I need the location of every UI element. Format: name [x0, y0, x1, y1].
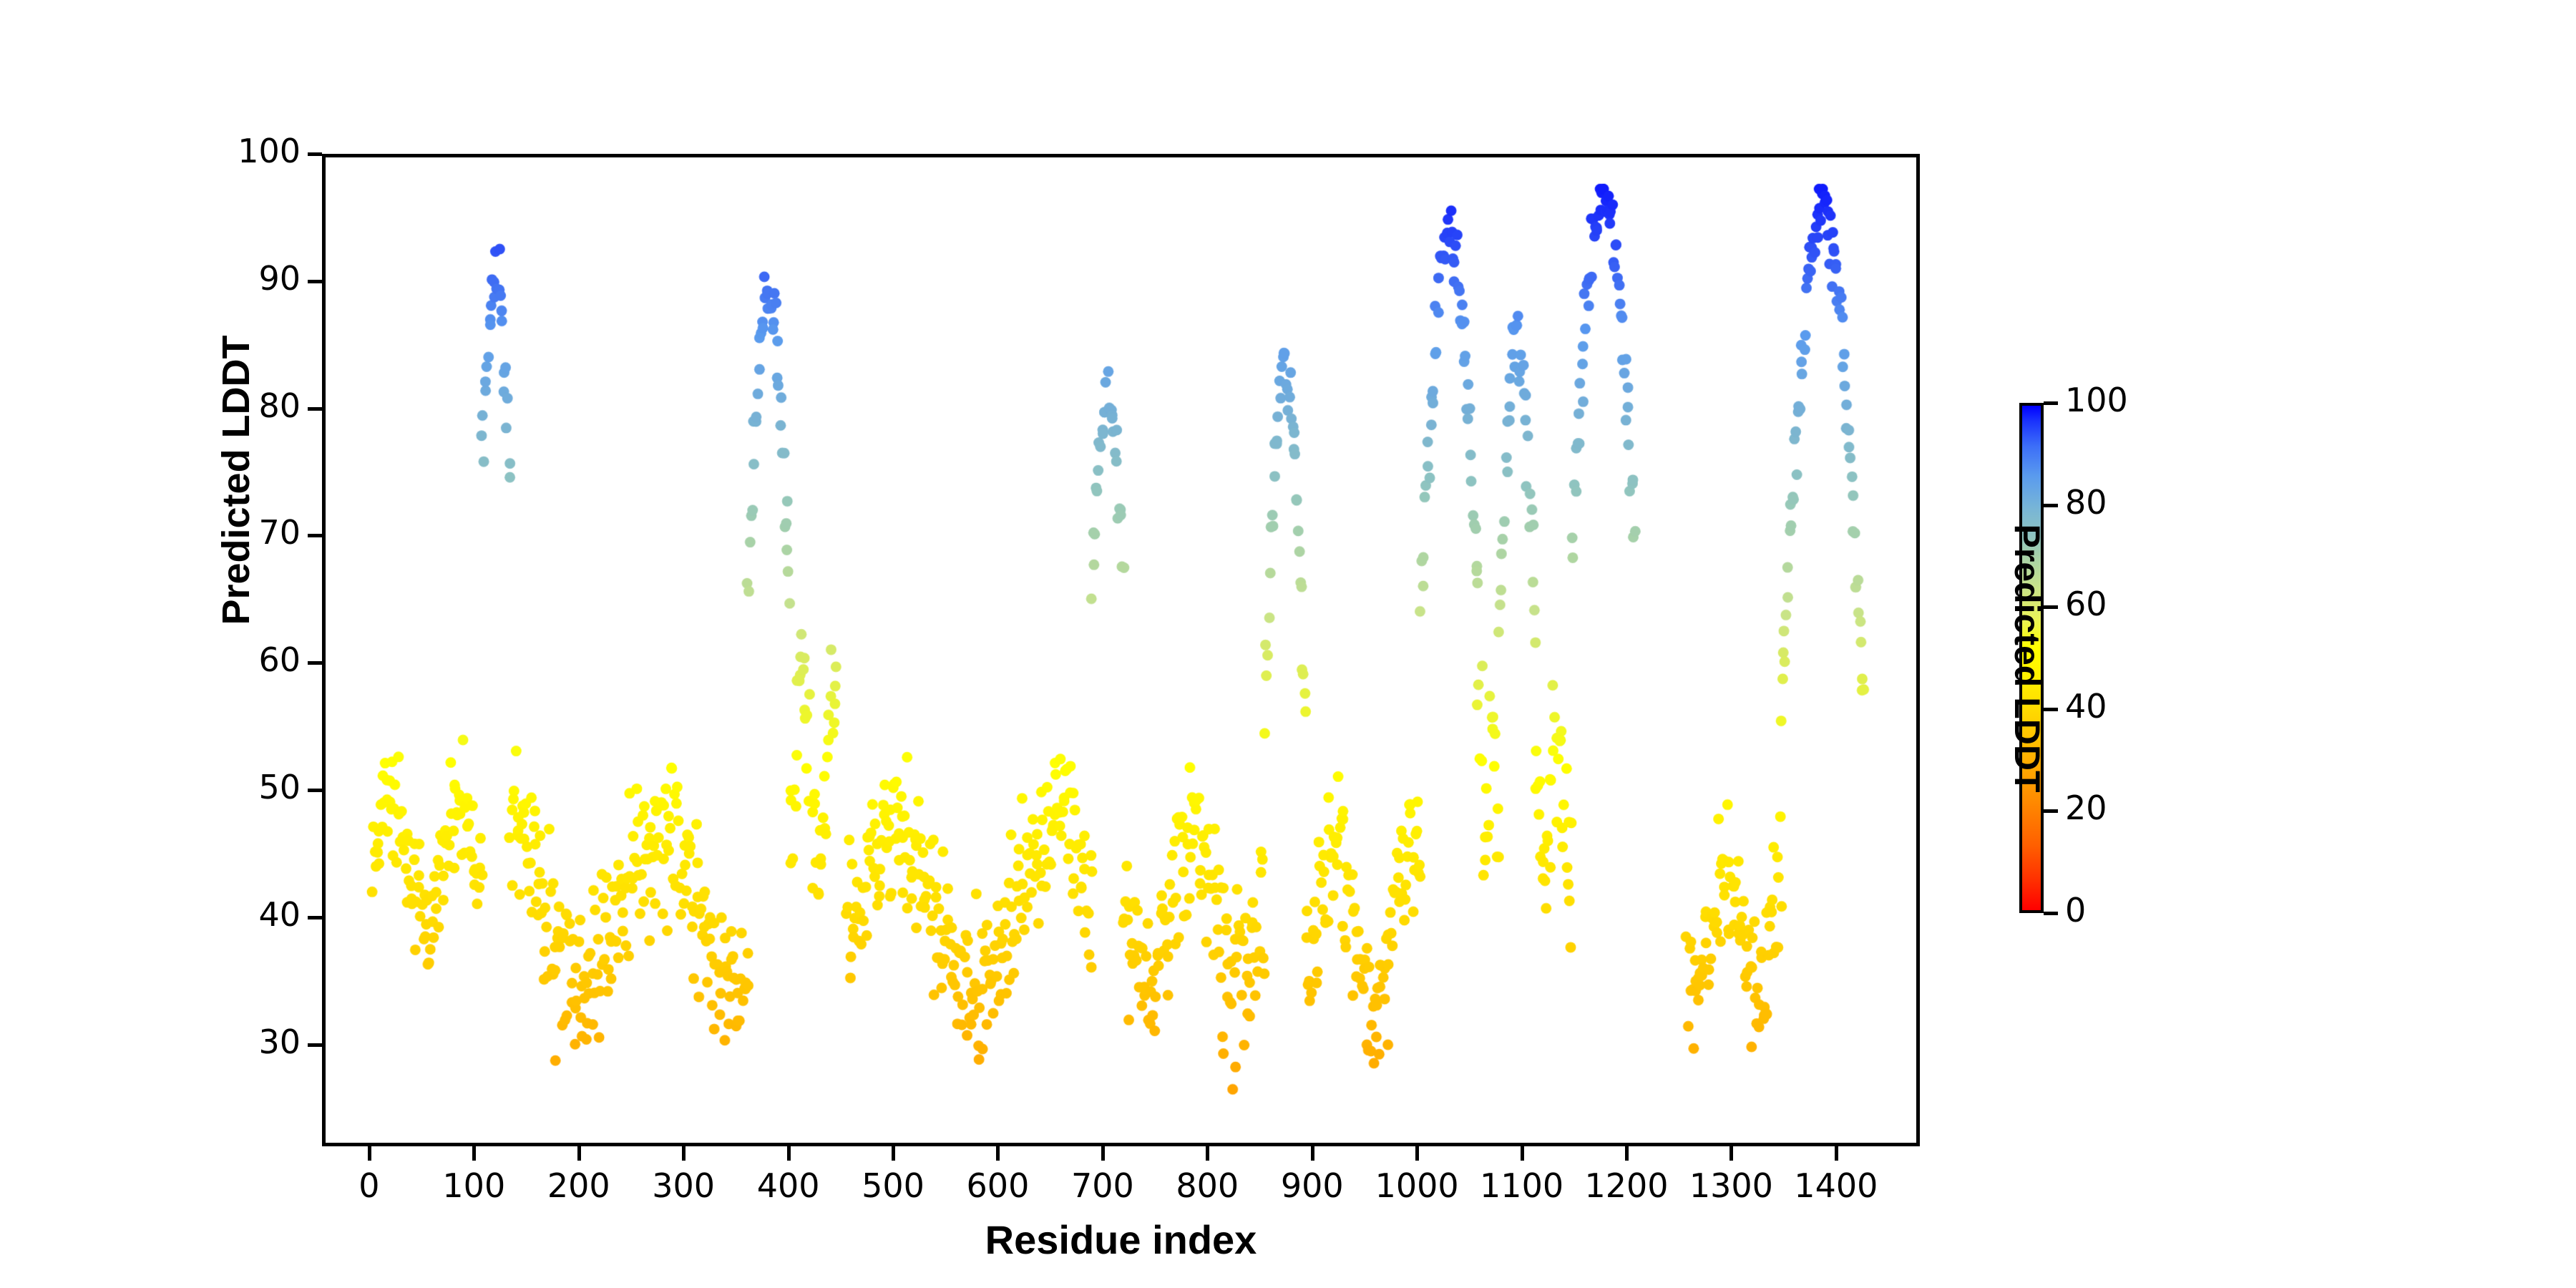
colorbar-tick-mark — [2044, 401, 2058, 405]
colorbar-tick-label: 20 — [2065, 789, 2107, 827]
plot-area — [322, 154, 1920, 1146]
y-tick-label: 40 — [222, 895, 301, 934]
x-tick-mark — [1729, 1146, 1733, 1161]
y-tick-mark — [308, 789, 322, 792]
colorbar-tick-mark — [2044, 912, 2058, 915]
x-tick-mark — [1415, 1146, 1419, 1161]
y-tick-mark — [308, 152, 322, 156]
x-tick-mark — [996, 1146, 1000, 1161]
scatter-points-layer — [326, 157, 1916, 1143]
y-tick-mark — [308, 280, 322, 283]
y-tick-mark — [308, 661, 322, 665]
colorbar-tick-label: 40 — [2065, 687, 2107, 726]
x-tick-mark — [1101, 1146, 1105, 1161]
x-tick-mark — [1835, 1146, 1838, 1161]
colorbar-tick-label: 100 — [2065, 381, 2128, 419]
y-tick-label: 100 — [222, 132, 301, 170]
y-tick-label: 60 — [222, 640, 301, 679]
colorbar-tick-label: 80 — [2065, 483, 2107, 522]
x-tick-mark — [1206, 1146, 1209, 1161]
y-tick-label: 50 — [222, 768, 301, 806]
y-tick-label: 30 — [222, 1023, 301, 1061]
y-tick-mark — [308, 1043, 322, 1047]
x-axis-title: Residue index — [322, 1216, 1920, 1263]
x-tick-mark — [787, 1146, 791, 1161]
y-tick-mark — [308, 534, 322, 537]
y-tick-label: 90 — [222, 259, 301, 298]
x-tick-mark — [1521, 1146, 1524, 1161]
figure-canvas: Predicted LDDT 30405060708090100 0100200… — [0, 0, 2576, 1288]
colorbar-tick-label: 0 — [2065, 891, 2086, 930]
x-tick-label: 1400 — [1765, 1166, 1908, 1205]
colorbar-title: Predicted LDDT — [2006, 408, 2048, 909]
x-tick-mark — [577, 1146, 581, 1161]
x-tick-mark — [472, 1146, 476, 1161]
y-tick-mark — [308, 407, 322, 411]
x-tick-mark — [682, 1146, 686, 1161]
y-tick-mark — [308, 916, 322, 919]
colorbar-tick-label: 60 — [2065, 585, 2107, 623]
y-tick-label: 70 — [222, 513, 301, 552]
x-tick-mark — [892, 1146, 895, 1161]
y-tick-label: 80 — [222, 386, 301, 425]
x-tick-mark — [368, 1146, 371, 1161]
x-tick-mark — [1625, 1146, 1629, 1161]
x-tick-mark — [1311, 1146, 1314, 1161]
